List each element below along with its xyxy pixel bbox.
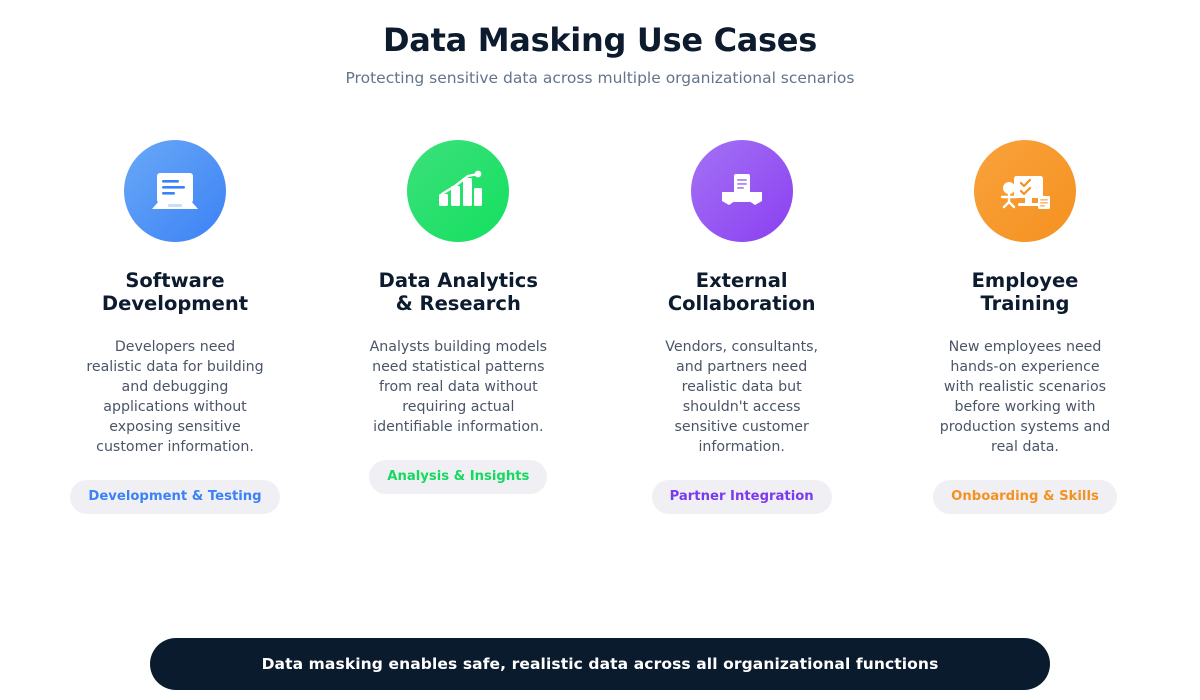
card-title: Software Development	[102, 269, 248, 315]
card-pill-badge: Partner Integration	[652, 480, 832, 514]
card-title-line-1: Software	[102, 269, 248, 292]
card-pill-badge: Onboarding & Skills	[933, 480, 1117, 514]
summary-banner-text: Data masking enables safe, realistic dat…	[262, 655, 939, 673]
use-case-card-data-analytics: Data Analytics & Research Analysts build…	[333, 140, 583, 494]
card-title-line-1: Employee	[972, 269, 1079, 292]
card-title-line-2: Training	[972, 292, 1079, 315]
card-title: Data Analytics & Research	[379, 269, 538, 315]
page-title: Data Masking Use Cases	[0, 18, 1200, 62]
card-title-line-2: Collaboration	[668, 292, 816, 315]
use-case-card-list: Software Development Developers need rea…	[50, 140, 1150, 514]
card-pill-badge: Development & Testing	[70, 480, 279, 514]
card-title-line-1: External	[668, 269, 816, 292]
bar-chart-trend-icon	[407, 140, 509, 242]
card-title-line-2: & Research	[379, 292, 538, 315]
card-description: Analysts building models need statistica…	[368, 337, 548, 437]
card-pill-badge: Analysis & Insights	[369, 460, 547, 494]
handshake-document-icon	[691, 140, 793, 242]
card-description: Vendors, consultants, and partners need …	[652, 337, 832, 457]
laptop-code-icon	[124, 140, 226, 242]
use-cases-page: Data Masking Use Cases Protecting sensit…	[0, 0, 1200, 700]
use-case-card-employee-training: Employee Training New employees need han…	[900, 140, 1150, 514]
training-monitor-icon	[974, 140, 1076, 242]
card-title: Employee Training	[972, 269, 1079, 315]
card-description: New employees need hands-on experience w…	[935, 337, 1115, 457]
card-title-line-2: Development	[102, 292, 248, 315]
use-case-card-software-development: Software Development Developers need rea…	[50, 140, 300, 514]
use-case-card-external-collaboration: External Collaboration Vendors, consulta…	[617, 140, 867, 514]
card-title: External Collaboration	[668, 269, 816, 315]
page-subtitle: Protecting sensitive data across multipl…	[0, 67, 1200, 89]
card-title-line-1: Data Analytics	[379, 269, 538, 292]
page-header: Data Masking Use Cases Protecting sensit…	[0, 18, 1200, 89]
card-description: Developers need realistic data for build…	[85, 337, 265, 457]
summary-banner: Data masking enables safe, realistic dat…	[150, 638, 1050, 690]
